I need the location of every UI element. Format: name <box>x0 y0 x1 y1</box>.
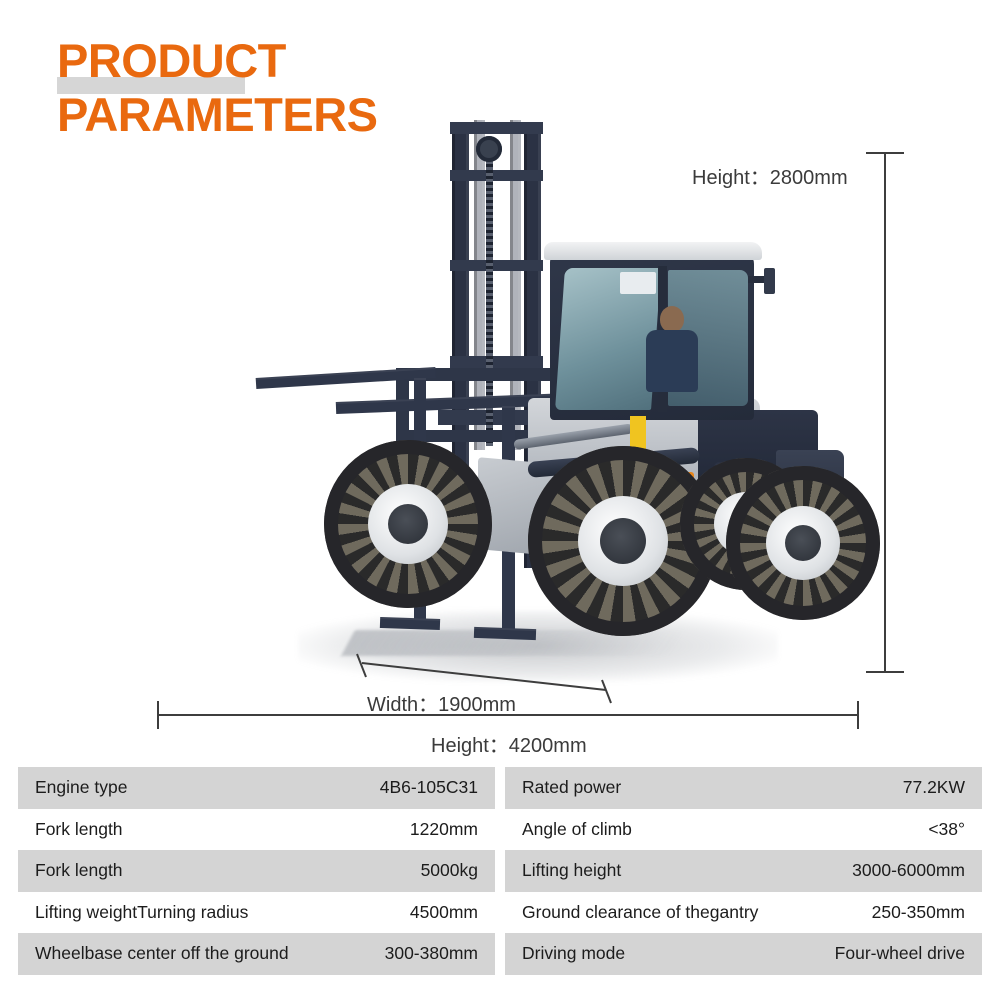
operator-head <box>660 306 684 332</box>
table-row: Engine type 4B6-105C31 <box>18 767 495 809</box>
title-text-product: PRODUCT <box>57 34 286 87</box>
product-parameters-page: PRODUCT PARAMETERS <box>0 0 1000 991</box>
spec-key: Ground clearance of thegantry <box>522 902 758 923</box>
spec-table-right-column: Rated power 77.2KW Angle of climb <38° L… <box>505 767 982 975</box>
spec-key: Lifting weightTurning radius <box>35 902 248 923</box>
spec-key: Angle of climb <box>522 819 632 840</box>
table-row: Ground clearance of thegantry 250-350mm <box>505 892 982 934</box>
wheel-hub <box>388 504 428 544</box>
dimension-line-height-vertical <box>884 152 886 673</box>
wheel-hub <box>785 525 821 561</box>
dimension-label-width: Width：1900mm <box>367 688 516 717</box>
dimension-label-height-vertical: Height：2800mm <box>692 161 848 190</box>
cab-roof <box>544 242 762 260</box>
dimension-label-height-horizontal: Height：4200mm <box>431 729 587 758</box>
warning-decal <box>630 416 646 450</box>
spec-key: Engine type <box>35 777 127 798</box>
fork-toe-right <box>474 627 536 640</box>
spec-value: 77.2KW <box>903 777 965 798</box>
spec-key: Driving mode <box>522 943 625 964</box>
spec-value: 5000kg <box>421 860 478 881</box>
spec-value: 1220mm <box>410 819 478 840</box>
spec-value: Four-wheel drive <box>835 943 965 964</box>
spec-value: 3000-6000mm <box>852 860 965 881</box>
page-title: PRODUCT PARAMETERS <box>57 34 657 141</box>
table-row: Rated power 77.2KW <box>505 767 982 809</box>
wheel-rear-right <box>726 466 880 620</box>
table-row: Angle of climb <38° <box>505 809 982 851</box>
table-row: Lifting height 3000-6000mm <box>505 850 982 892</box>
table-row: Wheelbase center off the ground 300-380m… <box>18 933 495 975</box>
spec-key: Rated power <box>522 777 621 798</box>
spec-table-left-column: Engine type 4B6-105C31 Fork length 1220m… <box>18 767 495 975</box>
spec-table: Engine type 4B6-105C31 Fork length 1220m… <box>18 767 982 975</box>
operator-torso <box>646 330 698 392</box>
spec-value: 250-350mm <box>872 902 965 923</box>
spec-key: Wheelbase center off the ground <box>35 943 289 964</box>
dimension-cap-bottom <box>866 671 904 673</box>
spec-key: Fork length <box>35 819 123 840</box>
dimension-line-height-horizontal <box>158 714 859 716</box>
title-text-parameters: PARAMETERS <box>57 88 378 141</box>
fork-toe-left <box>380 617 440 630</box>
forklift-illustration <box>228 110 848 695</box>
spec-key: Lifting height <box>522 860 621 881</box>
table-row: Lifting weightTurning radius 4500mm <box>18 892 495 934</box>
title-line-parameters: PARAMETERS <box>57 88 657 141</box>
product-photo <box>228 110 848 695</box>
spec-value: <38° <box>928 819 965 840</box>
dimension-cap-right <box>857 701 859 729</box>
cab-decal-plate <box>620 272 656 294</box>
title-line-product: PRODUCT <box>57 34 657 87</box>
mast-crossbar-2 <box>450 260 543 271</box>
spec-value: 4B6-105C31 <box>380 777 478 798</box>
dimension-cap-top <box>866 152 904 154</box>
spec-value: 4500mm <box>410 902 478 923</box>
mast-crossbar-1 <box>450 170 543 181</box>
spec-key: Fork length <box>35 860 123 881</box>
spec-value: 300-380mm <box>385 943 478 964</box>
wheel-front-left <box>324 440 492 608</box>
table-row: Fork length 1220mm <box>18 809 495 851</box>
side-mirror <box>764 268 775 294</box>
dimension-cap-left <box>157 701 159 729</box>
counterweight-plate <box>784 440 830 455</box>
wheel-hub <box>600 518 646 564</box>
table-row: Fork length 5000kg <box>18 850 495 892</box>
table-row: Driving mode Four-wheel drive <box>505 933 982 975</box>
